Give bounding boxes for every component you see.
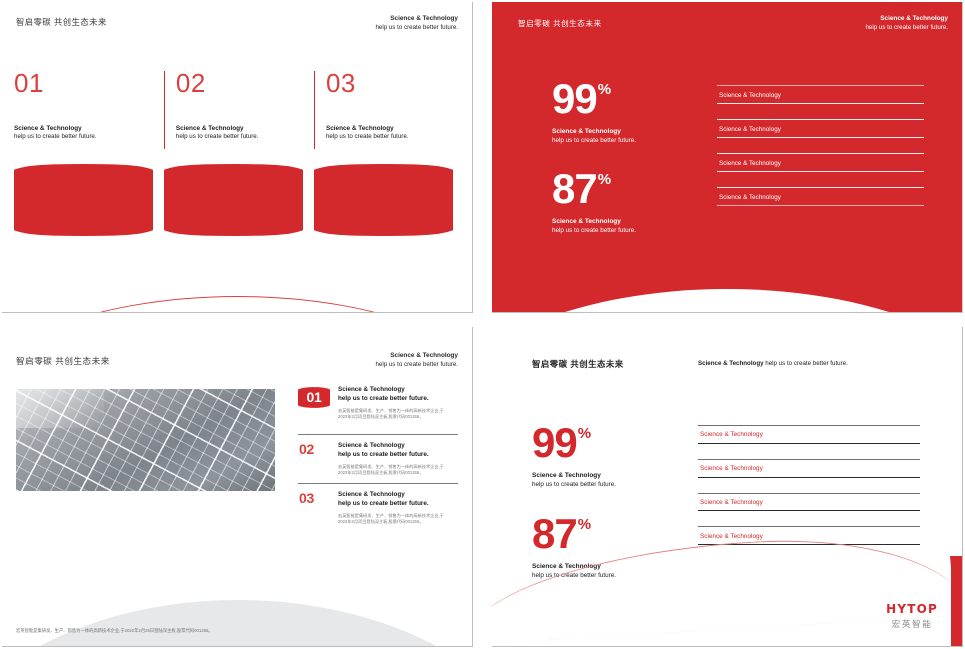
stat-caption-title: Science & Technology [552,127,636,136]
red-edge-bar-decoration [950,556,962,646]
slide-2-red-statistics[interactable]: 智启零碳 共创生态未来 Science & Technology help us… [492,2,963,313]
list-divider [717,205,924,206]
logo-wordmark-en: HYTOP [886,602,938,616]
stat-caption: Science & Technology help us to create b… [552,217,636,236]
slide-1-column-number: 01 [14,70,164,96]
hytop-logo: HYTOP 宏英智能 [886,602,938,630]
slide-1-header-cn: 智启零碳 共创生态未来 [16,16,107,28]
item-description: 宏英智能是集研发、生产、销售为一体的高新技术企业,于2022年2月项目登陆深主板… [338,464,450,477]
list-spacer [698,444,920,459]
slide-1-column-number: 03 [326,70,464,96]
slide-1-column-title: Science & Technology [326,124,464,133]
stat-caption: Science & Technology help us to create b… [552,127,636,146]
slide-1-column-03[interactable]: 03 Science & Technology help us to creat… [314,70,464,142]
slide-1-placeholder-wrap [14,164,164,236]
slide-1-column-body: Science & Technology help us to create b… [326,124,464,142]
stat-caption-subtitle: help us to create better future. [552,227,636,234]
item-title: Science & Technology help us to create b… [338,385,458,404]
slide-1-column-01[interactable]: 01 Science & Technology help us to creat… [14,70,164,142]
slide-1-column-number: 02 [176,70,314,96]
list-item[interactable]: 01 Science & Technology help us to creat… [298,385,458,432]
stat-unit: % [578,516,591,533]
barrel-shape-placeholder[interactable] [14,164,153,236]
slide-3-tagline-strong: Science & Technology [375,352,458,361]
item-number: 03 [298,488,330,509]
list-item[interactable]: Science & Technology [698,493,920,510]
item-title-line2: help us to create better future. [338,499,458,508]
stat-caption-subtitle: help us to create better future. [552,137,636,144]
list-item[interactable]: 03 Science & Technology help us to creat… [298,483,458,530]
logo-wordmark-cn: 宏英智能 [886,618,938,630]
item-title: Science & Technology help us to create b… [338,490,458,509]
slide-2-stat-87: 87% Science & Technology help us to crea… [552,170,636,235]
stat-value-group: 99% [552,80,636,118]
item-description: 宏英智能是集研发、生产、销售为一体的高新技术企业,于2022年2月项目登陆深主板… [338,408,450,421]
item-number: 02 [298,439,330,460]
list-item[interactable]: Science & Technology [717,188,924,205]
item-title-line1: Science & Technology [338,490,458,499]
item-description: 宏英智能是集研发、生产、销售为一体的高新技术企业,于2022年2月项目登陆深主板… [338,513,450,526]
stat-value: 99 [532,419,577,466]
slide-1-tagline-strong: Science & Technology [375,15,458,24]
slide-4-tagline-inline: help us to create better future. [765,360,848,367]
stat-caption: Science & Technology help us to create b… [532,471,616,490]
list-item[interactable]: Science & Technology [698,460,920,477]
stat-caption-title: Science & Technology [532,471,616,480]
stat-caption-title: Science & Technology [552,217,636,226]
slide-2-line-list: Science & Technology Science & Technolog… [717,85,924,206]
list-spacer [717,138,924,153]
stat-value-group: 99% [532,424,616,462]
list-item[interactable]: Science & Technology [698,426,920,443]
stat-value-group: 87% [532,515,616,553]
slide-3-tagline-sub: help us to create better future. [375,361,458,369]
slide-1-column-subtitle: help us to create better future. [14,133,97,140]
slide-4-header-cn: 智启零碳 共创生态未来 [532,358,624,370]
item-title-line2: help us to create better future. [338,450,458,459]
stat-unit: % [598,81,611,98]
item-title-line1: Science & Technology [338,441,458,450]
stat-caption-subtitle: help us to create better future. [532,481,616,488]
slide-2-tagline-strong: Science & Technology [865,15,948,24]
slide-2-stat-99: 99% Science & Technology help us to crea… [552,80,636,145]
list-spacer [698,511,920,526]
slide-4-line-list: Science & Technology Science & Technolog… [698,425,920,545]
slide-1-tagline-sub: help us to create better future. [375,24,458,32]
stat-value: 87 [532,510,577,557]
gray-wave-decoration [2,600,473,647]
slide-3-footnote: 宏英智能是集研发、生产、销售为一体的高新技术企业,于2022年2月26日登陆深主… [16,627,246,634]
stat-value: 87 [552,165,597,212]
barrel-shape-placeholder[interactable] [164,164,303,236]
list-item[interactable]: Science & Technology [717,120,924,137]
list-item[interactable]: Science & Technology [717,86,924,103]
white-arc-decoration [492,289,963,313]
slide-1-column-body: Science & Technology help us to create b… [14,124,164,142]
list-item[interactable]: 02 Science & Technology help us to creat… [298,434,458,481]
slide-1-column-subtitle: help us to create better future. [176,133,259,140]
slide-4-tagline: Science & Technology help us to create b… [698,360,848,367]
slide-3-photo-and-list[interactable]: 智启零碳 共创生态未来 Science & Technology help us… [2,327,473,647]
list-spacer [698,478,920,493]
list-spacer [717,172,924,187]
slide-3-header-cn: 智启零碳 共创生态未来 [16,355,110,367]
slide-2-tagline: Science & Technology help us to create b… [865,15,948,32]
slide-1-columns: 01 Science & Technology help us to creat… [14,70,464,142]
stat-unit: % [578,425,591,442]
stat-value-group: 87% [552,170,636,208]
slide-1-three-column-numbered[interactable]: 智启零碳 共创生态未来 Science & Technology help us… [2,2,473,313]
slide-1-column-subtitle: help us to create better future. [326,133,409,140]
list-spacer [717,104,924,119]
solar-panel-array-photo[interactable] [16,389,275,491]
stat-value: 99 [552,75,597,122]
slide-1-column-title: Science & Technology [176,124,314,133]
slide-4-stat-99: 99% Science & Technology help us to crea… [532,424,616,489]
slide-2-header-cn: 智启零碳 共创生态未来 [518,18,602,29]
slide-thumbnail-grid: 智启零碳 共创生态未来 Science & Technology help us… [0,0,965,649]
item-title: Science & Technology help us to create b… [338,441,458,460]
barrel-shape-placeholder[interactable] [314,164,453,236]
slide-4-white-statistics[interactable]: 智启零碳 共创生态未来 Science & Technology help us… [492,327,963,647]
list-item[interactable]: Science & Technology [717,154,924,171]
slide-1-placeholder-wrap [314,164,464,236]
slide-4-tagline-strong: Science & Technology [698,360,764,367]
stat-unit: % [598,171,611,188]
slide-3-numbered-list: 01 Science & Technology help us to creat… [298,385,458,530]
slide-1-column-title: Science & Technology [14,124,164,133]
slide-1-column-02[interactable]: 02 Science & Technology help us to creat… [164,70,314,142]
slide-2-tagline-sub: help us to create better future. [865,24,948,32]
item-title-line1: Science & Technology [338,385,458,394]
slide-1-column-body: Science & Technology help us to create b… [176,124,314,142]
slide-1-image-placeholders [14,164,464,236]
slide-1-placeholder-wrap [164,164,314,236]
item-number-badge: 01 [298,387,330,408]
item-title-line2: help us to create better future. [338,394,458,403]
red-arc-decoration [2,296,473,313]
slide-3-tagline: Science & Technology help us to create b… [375,352,458,369]
slide-1-tagline: Science & Technology help us to create b… [375,15,458,32]
